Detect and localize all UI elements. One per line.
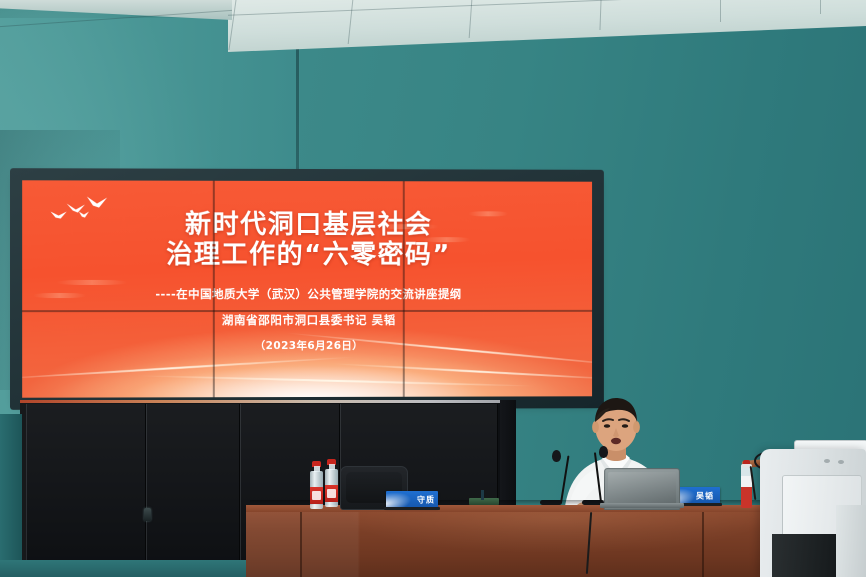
slide-glow xyxy=(22,337,592,398)
flying-birds-icon xyxy=(22,180,592,181)
ceiling-grid xyxy=(0,0,866,60)
cabinet-handle-icon[interactable] xyxy=(144,508,151,521)
lectern-screw xyxy=(838,460,844,464)
cabinet-door[interactable] xyxy=(146,404,240,577)
lectern-base xyxy=(772,534,842,577)
floor-strip xyxy=(0,560,250,577)
slide-title-line1: 新时代洞口基层社会 xyxy=(22,210,592,240)
video-wall-display: 新时代洞口基层社会 治理工作的“六零密码” ----在中国地质大学（武汉）公共管… xyxy=(22,180,592,397)
slide-subtitle-line2: 湖南省邵阳市洞口县委书记 吴韬 xyxy=(22,312,592,328)
water-bottle[interactable] xyxy=(310,461,323,509)
presentation-slide: 新时代洞口基层社会 治理工作的“六零密码” ----在中国地质大学（武汉）公共管… xyxy=(22,180,592,397)
water-bottle[interactable] xyxy=(325,459,338,507)
panel-seam xyxy=(22,310,592,312)
name-placard-left: 守质 xyxy=(386,491,438,508)
wall-vent xyxy=(500,400,516,510)
lectern-side xyxy=(836,505,866,577)
panel-seam xyxy=(403,181,405,397)
slide-subtitle-line1: ----在中国地质大学（武汉）公共管理学院的交流讲座提纲 xyxy=(22,286,592,302)
video-wall[interactable]: 新时代洞口基层社会 治理工作的“六零密码” ----在中国地质大学（武汉）公共管… xyxy=(16,174,598,404)
name-placard-right-text: 吴韬 xyxy=(696,490,714,501)
table-seam xyxy=(300,512,302,577)
slide-title-line2: 治理工作的“六零密码” xyxy=(22,240,592,270)
desk-cable xyxy=(481,490,484,500)
cabinet-door[interactable] xyxy=(26,404,146,577)
laptop-base xyxy=(600,503,684,508)
desk-device xyxy=(469,498,499,505)
left-floor-shadow xyxy=(0,414,22,577)
name-placard-left-base xyxy=(384,507,440,510)
slide-title: 新时代洞口基层社会 治理工作的“六零密码” xyxy=(22,210,592,270)
cabinet-top-reflection xyxy=(20,400,500,403)
photo-scene: 新时代洞口基层社会 治理工作的“六零密码” ----在中国地质大学（武汉）公共管… xyxy=(0,0,866,577)
panel-seam xyxy=(213,181,215,397)
lectern-screw xyxy=(824,459,830,463)
name-placard-left-text: 守质 xyxy=(417,494,435,505)
table-seam xyxy=(702,512,704,577)
